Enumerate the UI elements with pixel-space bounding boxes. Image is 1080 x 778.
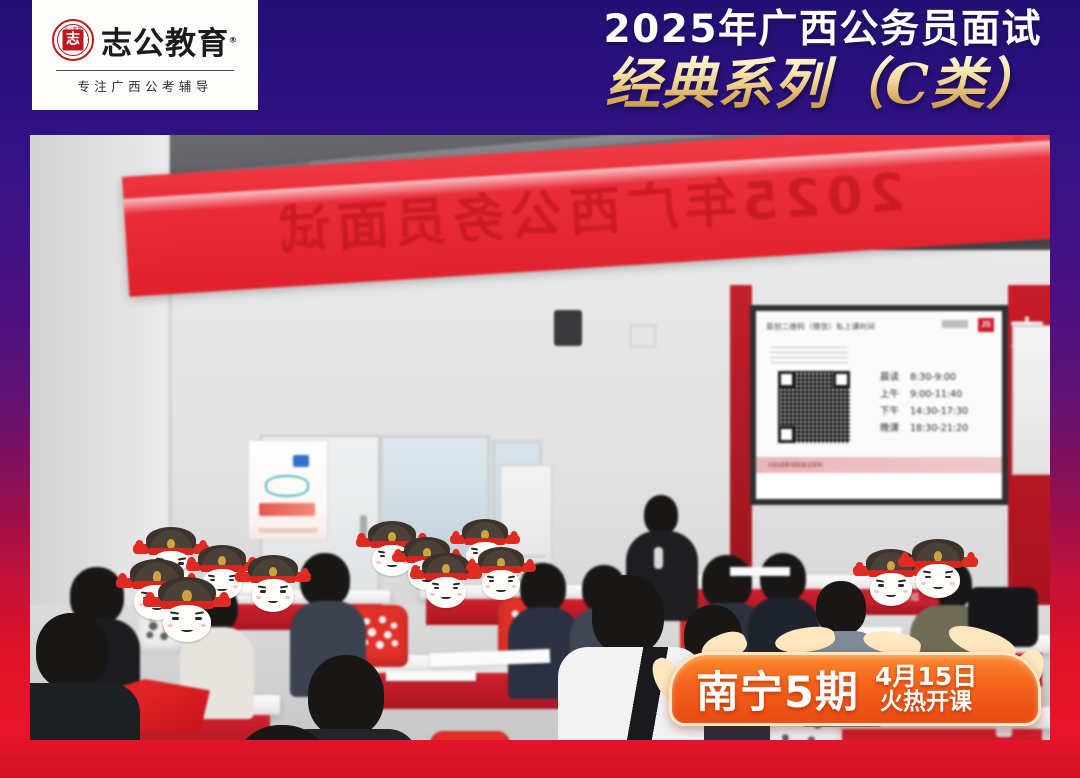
mascot-face <box>482 570 521 600</box>
qr-code-icon <box>778 371 850 443</box>
mascot-eye <box>229 579 234 581</box>
mascot-pompom <box>219 592 229 607</box>
logo-divider <box>56 70 234 71</box>
mascot-pompom <box>301 568 310 581</box>
poster-shape <box>259 528 317 533</box>
mascot-pompom <box>855 562 864 575</box>
schedule-label: 晨读 <box>880 369 910 386</box>
schedule-time: 14:30-17:30 <box>910 406 968 417</box>
papers <box>386 671 476 681</box>
course-badge[interactable]: 南宁5期 4月15日 火热开课 <box>655 632 1055 740</box>
mascot-brow <box>378 550 385 553</box>
schedule-row: 上午9:00-11:40 <box>880 386 968 403</box>
mascot-brow <box>876 579 884 582</box>
seal-char: 志 <box>63 30 84 51</box>
mascot-pompom <box>510 531 518 543</box>
mascot-face <box>916 564 960 598</box>
mascot-eye <box>172 617 178 620</box>
mascot-face <box>426 577 466 608</box>
mascot-eye <box>260 590 265 592</box>
mascot-mouth <box>181 628 193 632</box>
schedule-row: 晚课18:30-21:20 <box>880 420 968 437</box>
mascot-cheek <box>903 590 908 593</box>
qr-eye <box>778 371 795 388</box>
mascot-face <box>252 579 294 611</box>
screen-footer-text: 扫码进群领取面试资料 <box>768 461 823 469</box>
mascot-eye <box>195 617 201 620</box>
mascot-mouth <box>441 596 451 599</box>
brand-name: 志公教育® <box>101 18 238 63</box>
mascot-sticker-icon <box>422 553 470 609</box>
schedule-time: 8:30-9:00 <box>910 372 956 383</box>
instructor-head <box>644 495 678 535</box>
mascot-eye <box>508 580 513 582</box>
mascot-cheek <box>512 585 517 588</box>
mascot-mouth <box>933 585 943 589</box>
mascot-pompom <box>394 549 402 561</box>
mascot-face <box>870 573 912 605</box>
mascot-brow <box>898 579 906 582</box>
registered-mark: ® <box>229 35 238 44</box>
mascot-eye <box>280 590 285 592</box>
mascot-eye <box>878 584 883 586</box>
screen-brand-badge: JS <box>978 318 994 332</box>
mascot-sticker-icon <box>912 539 964 599</box>
mascot-pompom <box>452 531 460 543</box>
schedule-label: 下午 <box>880 403 910 420</box>
mascot-cheek <box>457 593 462 596</box>
banner-registered: ® <box>1013 135 1024 146</box>
mascot-sticker-icon <box>158 577 216 643</box>
mascot-eye <box>898 584 903 586</box>
screen-brand-logo <box>942 320 968 328</box>
schedule-row: 下午14:30-17:30 <box>880 403 968 420</box>
mascot-eye <box>380 555 385 557</box>
mascot-brow <box>923 570 931 573</box>
mascot-mouth <box>496 588 505 591</box>
mascot-eye <box>434 587 439 589</box>
headline-block: 2025年广西公务员面试 经典系列（C类） <box>603 6 1042 116</box>
mascot-pompom <box>237 568 246 581</box>
wall-poster <box>248 440 328 540</box>
chair <box>430 731 510 740</box>
microphone-icon <box>654 547 663 569</box>
mascot-brow <box>945 570 953 573</box>
mascot-eye <box>453 587 458 589</box>
mascot-brow <box>195 612 204 615</box>
mascot-eye <box>489 580 494 582</box>
mascot-cheek <box>376 561 381 564</box>
screen-header: 首创二维码（微信）私上课时间 <box>766 321 875 332</box>
schedule-label: 上午 <box>880 386 910 403</box>
mascot-cheek <box>950 582 955 585</box>
mascot-cheek <box>233 585 238 588</box>
mascot-mouth <box>886 593 896 597</box>
mascot-eye <box>925 576 931 578</box>
mascot-pompom <box>135 540 144 553</box>
mascot-pompom <box>145 592 155 607</box>
mascot-mouth <box>217 588 227 591</box>
mascot-mouth <box>268 599 278 603</box>
screen-note-lines <box>770 347 848 363</box>
poster-shape <box>259 503 315 516</box>
student-head <box>592 575 664 655</box>
qr-eye <box>778 426 795 443</box>
mascot-cheek <box>874 590 879 593</box>
whiteboard <box>1012 325 1050 475</box>
mascot-cheek <box>285 596 290 599</box>
badge-date: 4月15日 <box>875 664 977 691</box>
badge-date-block: 4月15日 火热开课 <box>875 664 977 715</box>
poster-root: 志公教育 志 志公教育® 专注广西公考辅导 2025年广西公务员面试 经典系列（… <box>0 0 1080 778</box>
mascot-pompom <box>357 533 365 545</box>
brand-name-text: 志公教育 <box>101 26 229 62</box>
mascot-cheek <box>430 593 435 596</box>
mascot-mouth <box>387 564 397 567</box>
class-schedule: 晨读8:30-9:00上午9:00-11:40下午14:30-17:30晚课18… <box>880 369 968 437</box>
mascot-brow <box>280 585 288 588</box>
schedule-row: 晨读8:30-9:00 <box>880 369 968 386</box>
badge-body[interactable]: 南宁5期 4月15日 火热开课 <box>669 652 1041 726</box>
student-body <box>30 683 140 740</box>
papers <box>730 567 790 576</box>
schedule-label: 晚课 <box>880 420 910 437</box>
mascot-sticker-icon <box>478 547 524 601</box>
seal-icon: 志公教育 志 <box>52 19 94 61</box>
mascot-brow <box>508 575 515 577</box>
schedule-time: 18:30-21:20 <box>910 423 968 434</box>
mascot-pompom <box>526 559 534 571</box>
student-head <box>36 613 108 689</box>
brand-tagline: 专注广西公考辅导 <box>77 76 212 95</box>
mascot-face <box>163 605 212 642</box>
mascot-sticker-icon <box>248 555 298 613</box>
mascot-pompom <box>468 559 476 571</box>
headline-sub: 经典系列（C类） <box>603 52 1042 116</box>
screen-footer-band <box>756 473 1002 499</box>
poster-shape <box>293 455 309 467</box>
mascot-brow <box>487 575 494 577</box>
badge-open-text: 火热开课 <box>875 690 977 714</box>
student-head <box>308 655 384 737</box>
student-head <box>702 555 752 609</box>
brand-logo-card: 志公教育 志 志公教育® 专注广西公考辅导 <box>32 0 258 110</box>
wall-sensor <box>630 325 656 347</box>
badge-city-term: 南宁5期 <box>696 658 859 720</box>
mascot-brow <box>258 585 266 588</box>
mascot-cheek <box>256 596 261 599</box>
projector-screen: 首创二维码（微信）私上课时间 JS 晨读8:30-9:00上午9:00-11:4… <box>750 305 1008 505</box>
qr-eye <box>833 371 850 388</box>
mascot-eye <box>945 576 951 578</box>
mascot-pompom <box>411 565 419 577</box>
mascot-cheek <box>486 585 491 588</box>
mascot-brow <box>432 582 439 585</box>
mascot-brow <box>170 612 179 615</box>
mascot-pompom <box>187 557 195 569</box>
headline-main: 2025年广西公务员面试 <box>603 6 1042 54</box>
mascot-cheek <box>167 624 173 627</box>
mascot-cheek <box>921 582 926 585</box>
mascot-brow <box>453 582 460 585</box>
speaker-icon <box>554 310 582 346</box>
poster-shape <box>265 475 309 497</box>
student-head <box>760 553 806 603</box>
brand-logo-row: 志公教育 志 志公教育® <box>52 18 238 63</box>
mascot-cheek <box>201 624 207 627</box>
schedule-time: 9:00-11:40 <box>910 389 962 400</box>
